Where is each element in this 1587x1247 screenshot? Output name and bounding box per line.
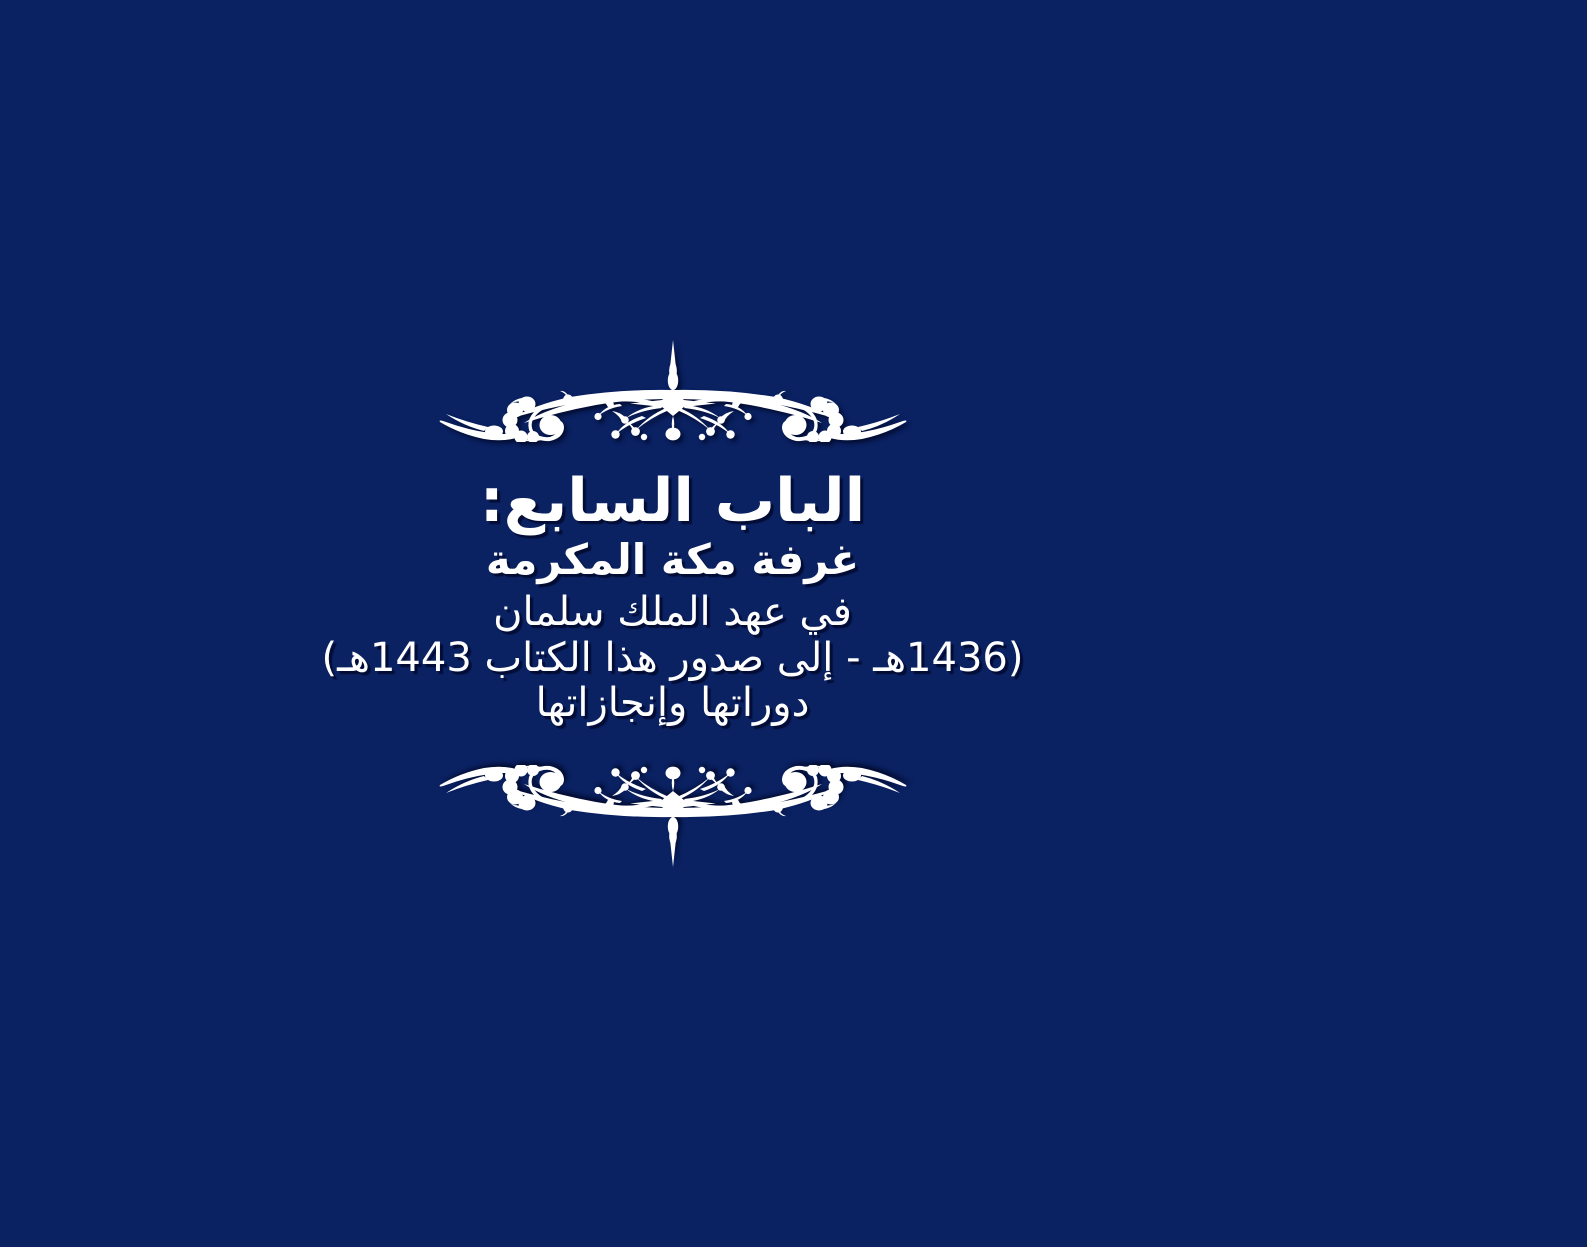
dates-line: (1436هـ - إلى صدور هذا الكتاب 1443هـ) <box>322 638 1024 680</box>
chapter-divider-page: الباب السابع: غرفة مكة المكرمة في عهد ال… <box>0 0 1587 1247</box>
closing-line: دوراتها وإنجازاتها <box>322 683 1024 725</box>
chapter-subject: غرفة مكة المكرمة <box>322 538 1024 582</box>
floral-flourish-divider-icon <box>438 765 908 869</box>
chapter-title-block: الباب السابع: غرفة مكة المكرمة في عهد ال… <box>322 470 1024 725</box>
centered-composition: الباب السابع: غرفة مكة المكرمة في عهد ال… <box>0 0 1345 1247</box>
chapter-heading: الباب السابع: <box>322 470 1024 532</box>
era-line: في عهد الملك سلمان <box>322 592 1024 634</box>
floral-flourish-divider-icon <box>438 338 908 442</box>
